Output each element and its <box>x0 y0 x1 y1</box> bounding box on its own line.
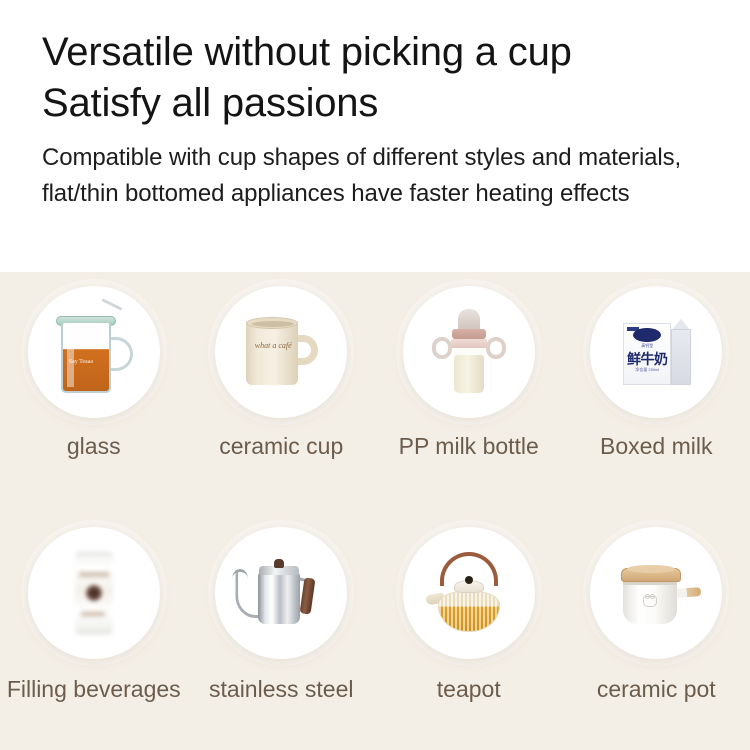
product-bubble <box>28 527 160 659</box>
product-bubble <box>215 527 347 659</box>
product-label: Filling beverages <box>7 675 181 703</box>
product-feature-page: Versatile without picking a cup Satisfy … <box>0 0 750 750</box>
ceramic-mug-label-text: what a café <box>250 341 296 350</box>
product-bubble: what a café <box>215 286 347 418</box>
product-label: stainless steel <box>209 675 353 703</box>
milk-carton-volume-text: 净含量 250ml <box>623 367 671 373</box>
gooseneck-kettle-icon <box>226 538 336 648</box>
product-cell-glass[interactable]: Say Teaaa glass <box>0 272 188 460</box>
product-label: PP milk bottle <box>399 432 539 460</box>
glass-mug-icon: Say Teaaa <box>39 297 149 407</box>
product-bubble <box>403 286 535 418</box>
canned-beverage-icon <box>39 538 149 648</box>
ceramic-mug-icon: what a café <box>226 297 336 407</box>
product-cell-boxed-milk[interactable]: 高钙型 鲜牛奶 净含量 250ml Boxed milk <box>563 272 750 460</box>
product-cell-teapot[interactable]: teapot <box>375 517 563 703</box>
product-cell-stainless-steel[interactable]: stainless steel <box>188 517 376 703</box>
headline-line-2: Satisfy all passions <box>42 79 708 128</box>
product-cell-filling-beverages[interactable]: Filling beverages <box>0 517 188 703</box>
glass-mug-label-text: Say Teaaa <box>69 359 103 366</box>
header-subcopy: Compatible with cup shapes of different … <box>42 140 702 212</box>
product-label: ceramic cup <box>219 432 343 460</box>
product-label: teapot <box>437 675 501 703</box>
product-label: glass <box>67 432 121 460</box>
product-cell-ceramic-pot[interactable]: ceramic pot <box>563 517 750 703</box>
product-label: Boxed milk <box>600 432 712 460</box>
product-bubble: 高钙型 鲜牛奶 净含量 250ml <box>590 286 722 418</box>
milk-carton-brand-text: 鲜牛奶 <box>623 349 671 369</box>
product-grid-section: Say Teaaa glass what a café ceramic cup <box>0 272 750 750</box>
product-row-1: Say Teaaa glass what a café ceramic cup <box>0 272 750 460</box>
product-cell-ceramic-cup[interactable]: what a café ceramic cup <box>188 272 376 460</box>
header-section: Versatile without picking a cup Satisfy … <box>0 0 750 272</box>
milk-carton-icon: 高钙型 鲜牛奶 净含量 250ml <box>601 297 711 407</box>
product-bubble <box>590 527 722 659</box>
product-bubble <box>403 527 535 659</box>
ceramic-milk-pan-icon <box>601 538 711 648</box>
glass-teapot-icon <box>414 538 524 648</box>
product-row-2: Filling beverages stainless steel <box>0 517 750 703</box>
baby-bottle-icon <box>414 297 524 407</box>
product-label: ceramic pot <box>597 675 716 703</box>
product-cell-pp-milk-bottle[interactable]: PP milk bottle <box>375 272 563 460</box>
product-bubble: Say Teaaa <box>28 286 160 418</box>
headline-line-1: Versatile without picking a cup <box>42 28 708 77</box>
